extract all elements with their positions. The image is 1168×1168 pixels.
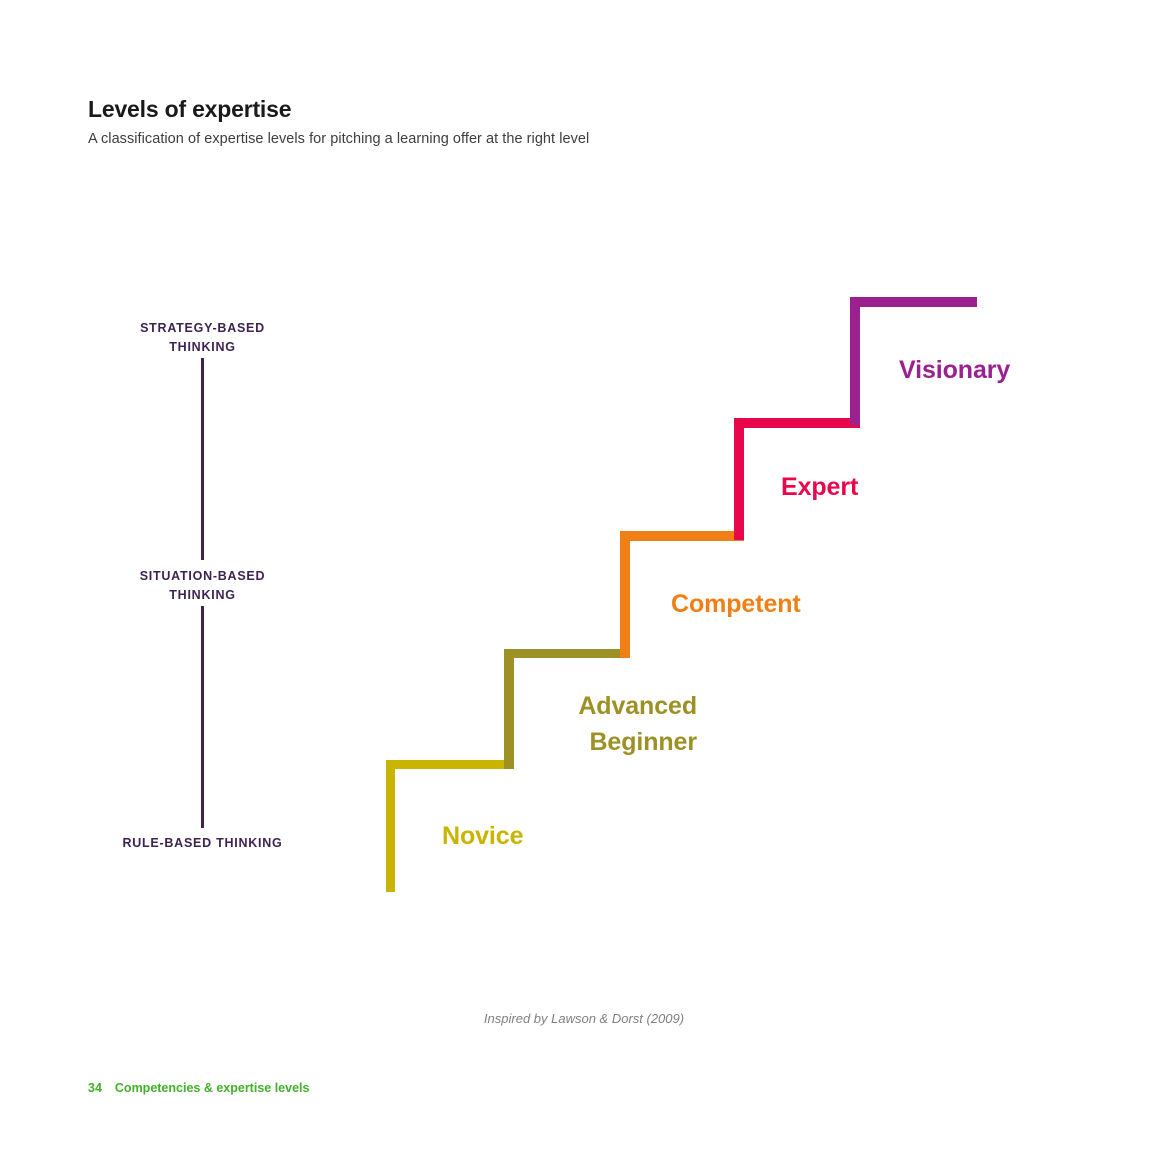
source-note: Inspired by Lawson & Dorst (2009) — [0, 1011, 1168, 1026]
step-tread-competent — [620, 531, 744, 541]
footer-section-title: Competencies & expertise levels — [115, 1081, 310, 1095]
step-riser-competent — [620, 531, 630, 658]
step-tread-advanced-beginner — [504, 649, 630, 658]
step-label-expert: Expert — [781, 469, 858, 505]
step-label-novice: Novice — [442, 818, 523, 854]
step-label-visionary: Visionary — [899, 352, 1010, 388]
step-tread-novice — [386, 760, 514, 769]
step-tread-expert — [734, 418, 860, 428]
slide-page: Levels of expertise A classification of … — [0, 0, 1168, 1168]
page-footer: 34Competencies & expertise levels — [88, 1081, 309, 1095]
footer-page-number: 34 — [88, 1081, 102, 1095]
step-riser-expert — [734, 418, 744, 540]
step-label-advanced-beginner: Advanced Beginner — [457, 688, 697, 760]
step-label-competent: Competent — [671, 586, 801, 622]
step-riser-visionary — [850, 297, 860, 425]
expertise-staircase: Novice Advanced Beginner Competent Exper… — [0, 0, 1168, 1168]
step-riser-novice — [386, 760, 395, 892]
step-tread-visionary — [850, 297, 977, 307]
